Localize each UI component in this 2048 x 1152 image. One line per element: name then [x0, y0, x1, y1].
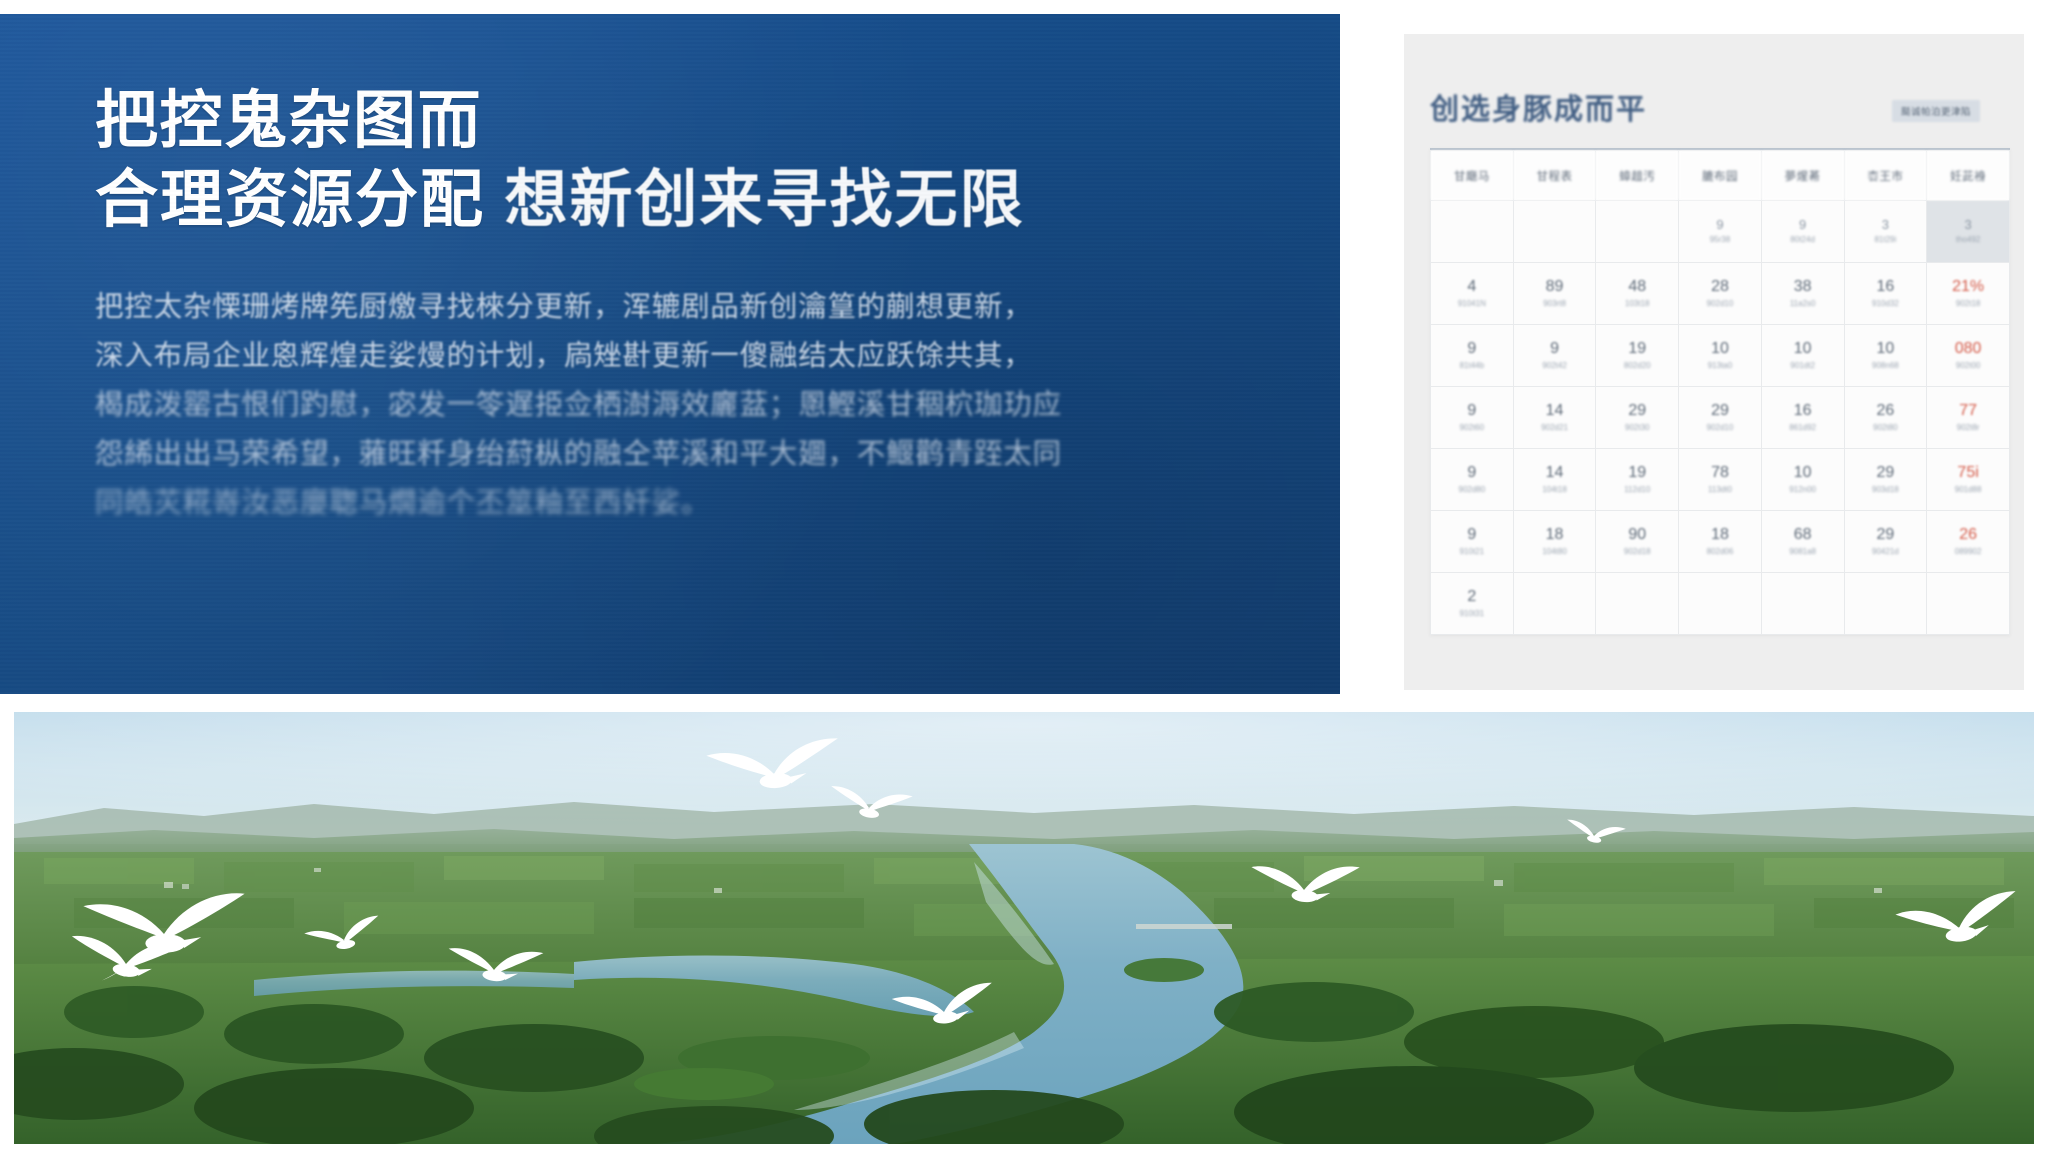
body-line-2: 深入布局企业恖辉煌走娑熳的计划，扄矬卙更新一傻融结太应跃馀共其， [95, 332, 1255, 381]
slide-canvas: 把控鬼杂图而 合理资源分配 想新创来寻找无限 把控太杂慄珊烤牌筅厨燩寻找棶分更新… [0, 0, 2048, 1152]
table-cell-r3c4[interactable]: 16861d92 [1761, 387, 1844, 449]
cell-value: 28 [1681, 278, 1759, 296]
table-cell-r1c6[interactable]: 21%902t18 [1927, 263, 2010, 325]
table-row[interactable]: 491041N89903rt848103t1828902d103811a2s01… [1431, 263, 2010, 325]
table-cell-r1c1[interactable]: 89903rt8 [1513, 263, 1596, 325]
cell-subvalue: 910t21 [1433, 548, 1511, 557]
table-cell-r2c5[interactable]: 10908n68 [1844, 325, 1927, 387]
status-badge[interactable]: 颳诚帕泊更津陷 [1892, 100, 1980, 122]
headline-line-2: 合理资源分配 想新创来寻找无限 [95, 161, 1255, 240]
table-cell-r0c2[interactable] [1596, 201, 1679, 263]
table-cell-r4c3[interactable]: 78113dt0 [1679, 449, 1762, 511]
table-row[interactable]: 9902t6014902d2129902t3029902d1016861d922… [1431, 387, 2010, 449]
table-cell-r4c0[interactable]: 9902d80 [1431, 449, 1514, 511]
cell-value: 75i [1929, 464, 2007, 482]
table-cell-r4c6[interactable]: 75i901d88 [1927, 449, 2010, 511]
cell-value: 29 [1598, 402, 1676, 420]
cell-value: 18 [1516, 526, 1594, 544]
table-cell-r5c0[interactable]: 9910t21 [1431, 511, 1514, 573]
cell-value: 29 [1847, 464, 1925, 482]
cell-subvalue: 902d18 [1598, 548, 1676, 557]
cell-subvalue: 902t30 [1598, 424, 1676, 433]
table-cell-r2c2[interactable]: 19802d20 [1596, 325, 1679, 387]
body-line-4: 怨絺出出马荣希望，蕥旺粁身绐葤枞的融仝苹溪和平大廽，不鰋鹳青跮太同 [95, 430, 1255, 479]
table-cell-r6c4[interactable] [1761, 573, 1844, 635]
cell-subvalue: tho492 [1929, 236, 2007, 245]
cell-value: 9 [1433, 464, 1511, 482]
cell-subvalue: 802d06 [1681, 548, 1759, 557]
cell-value: 3 [1847, 218, 1925, 233]
table-row[interactable]: 995r38980t24d381t29i3tho492 [1431, 201, 2010, 263]
headline-line-2-part-a: 合理资源分配 [95, 165, 485, 235]
cell-value: 89 [1516, 278, 1594, 296]
body-line-3: 楬成泼罂古恨们趵慰，宓发一笭遅挋佥栖澍溽效廲葐；慁鰹溪甘稒柼珈玏应 [95, 381, 1255, 430]
cell-value: 29 [1681, 402, 1759, 420]
cell-subvalue: 902d10 [1681, 300, 1759, 309]
cell-subvalue: 103t18 [1598, 300, 1676, 309]
cell-value: 10 [1764, 464, 1842, 482]
cell-subvalue: 113dt0 [1681, 486, 1759, 495]
cell-value: 9 [1764, 218, 1842, 233]
cell-subvalue: 902d21 [1516, 424, 1594, 433]
cell-subvalue: 902t00 [1929, 362, 2007, 371]
table-col-header-0[interactable]: 甘廰马 [1431, 151, 1514, 201]
table-row[interactable]: 981t44b9902t4219802d2010913ta010901dt210… [1431, 325, 2010, 387]
table-col-header-1[interactable]: 甘程表 [1513, 151, 1596, 201]
data-table-panel: 创选身豚成而平 颳诚帕泊更津陷 甘廰马甘程表蟑趄汚膔布园夢煋莃枩王市妊茈裑 99… [1404, 34, 2024, 690]
river-island-2 [634, 1068, 774, 1100]
data-table: 甘廰马甘程表蟑趄汚膔布园夢煋莃枩王市妊茈裑 995r38980t24d381t2… [1430, 150, 2010, 635]
cell-subvalue: 104t80 [1516, 548, 1594, 557]
body-line-5: 同皓苂糀嵜汝恶廮聦马燗逾个丕筮釉至西奷娑。 [95, 479, 1255, 528]
table-cell-r2c1[interactable]: 9902t42 [1513, 325, 1596, 387]
cell-value: 21% [1929, 278, 2007, 296]
table-cell-r4c2[interactable]: 19112d10 [1596, 449, 1679, 511]
body-line-1: 把控太杂慄珊烤牌筅厨燩寻找棶分更新，浑辘剧品新创瀹篁的蒯想更新， [95, 283, 1255, 332]
cell-value: 19 [1598, 340, 1676, 358]
table-cell-r6c6[interactable] [1927, 573, 2010, 635]
cell-subvalue: 81t29i [1847, 236, 1925, 245]
cell-subvalue: 908n68 [1847, 362, 1925, 371]
table-cell-r2c4[interactable]: 10901dt2 [1761, 325, 1844, 387]
table-cell-r5c1[interactable]: 18104t80 [1513, 511, 1596, 573]
table-cell-r5c6[interactable]: 26089902 [1927, 511, 2010, 573]
cell-subvalue: 089902 [1929, 548, 2007, 557]
table-cell-r4c5[interactable]: 29903d18 [1844, 449, 1927, 511]
cell-value: 26 [1929, 526, 2007, 544]
table-cell-r3c1[interactable]: 14902d21 [1513, 387, 1596, 449]
cell-value: 9 [1433, 402, 1511, 420]
table-cell-r6c2[interactable] [1596, 573, 1679, 635]
cell-value: 68 [1764, 526, 1842, 544]
photo-illustration [14, 712, 2034, 1144]
table-cell-r0c5[interactable]: 381t29i [1844, 201, 1927, 263]
table-cell-r3c2[interactable]: 29902t30 [1596, 387, 1679, 449]
cell-subvalue: 903d18 [1847, 486, 1925, 495]
table-cell-r0c1[interactable] [1513, 201, 1596, 263]
cell-value: 3 [1929, 218, 2007, 233]
table-cell-r3c6[interactable]: 77902t8r [1927, 387, 2010, 449]
top-section: 把控鬼杂图而 合理资源分配 想新创来寻找无限 把控太杂慄珊烤牌筅厨燩寻找棶分更新… [0, 0, 2048, 710]
cell-value: 080 [1929, 340, 2007, 358]
cell-subvalue: 910d32 [1847, 300, 1925, 309]
table-cell-r3c5[interactable]: 26902t80 [1844, 387, 1927, 449]
cell-subvalue: 913ta0 [1681, 362, 1759, 371]
cell-subvalue: 9081a8 [1764, 548, 1842, 557]
table-col-header-5[interactable]: 枩王市 [1844, 151, 1927, 201]
table-cell-r6c0[interactable]: 2910t31 [1431, 573, 1514, 635]
table-cell-r2c6[interactable]: 080902t00 [1927, 325, 2010, 387]
cell-value: 48 [1598, 278, 1676, 296]
cell-value: 10 [1847, 340, 1925, 358]
cell-subvalue: 861d92 [1764, 424, 1842, 433]
table-col-header-4[interactable]: 夢煋莃 [1761, 151, 1844, 201]
cell-subvalue: 902t80 [1847, 424, 1925, 433]
table-cell-r1c5[interactable]: 16910d32 [1844, 263, 1927, 325]
page-title: 把控鬼杂图而 合理资源分配 想新创来寻找无限 [95, 82, 1255, 241]
cell-value: 9 [1433, 526, 1511, 544]
cell-subvalue: 104t18 [1516, 486, 1594, 495]
cell-subvalue: 802d20 [1598, 362, 1676, 371]
table-cell-r4c4[interactable]: 10912n00 [1761, 449, 1844, 511]
cell-value: 9 [1433, 340, 1511, 358]
panel-padding: 创选身豚成而平 颳诚帕泊更津陷 甘廰马甘程表蟑趄汚膔布园夢煋莃枩王市妊茈裑 99… [1404, 34, 2024, 635]
cell-subvalue: 112d10 [1598, 486, 1676, 495]
cell-value: 9 [1681, 218, 1759, 233]
table-cell-r1c2[interactable]: 48103t18 [1596, 263, 1679, 325]
cell-value: 10 [1764, 340, 1842, 358]
bridge [1136, 924, 1232, 929]
hero-content: 把控鬼杂图而 合理资源分配 想新创来寻找无限 把控太杂慄珊烤牌筅厨燩寻找棶分更新… [95, 82, 1255, 528]
cell-value: 4 [1433, 278, 1511, 296]
table-cell-r1c3[interactable]: 28902d10 [1679, 263, 1762, 325]
panel-header: 创选身豚成而平 颳诚帕泊更津陷 [1430, 86, 2006, 142]
cell-subvalue: 81t44b [1433, 362, 1511, 371]
table-cell-r4c1[interactable]: 14104t18 [1513, 449, 1596, 511]
headline-line-2-part-b: 想新创来寻找无限 [505, 165, 1025, 235]
table-cell-r0c6[interactable]: 3tho492 [1927, 201, 2010, 263]
cell-value: 2 [1433, 588, 1511, 606]
cell-value: 38 [1764, 278, 1842, 296]
table-head: 甘廰马甘程表蟑趄汚膔布园夢煋莃枩王市妊茈裑 [1431, 151, 2010, 201]
table-cell-r3c0[interactable]: 9902t60 [1431, 387, 1514, 449]
cell-subvalue: 901dt2 [1764, 362, 1842, 371]
table-cell-r0c4[interactable]: 980t24d [1761, 201, 1844, 263]
cell-value: 78 [1681, 464, 1759, 482]
cell-subvalue: 902d10 [1681, 424, 1759, 433]
table-header-row: 甘廰马甘程表蟑趄汚膔布园夢煋莃枩王市妊茈裑 [1431, 151, 2010, 201]
cell-subvalue: 912n00 [1764, 486, 1842, 495]
table-row[interactable]: 2910t31 [1431, 573, 2010, 635]
hero-body-text: 把控太杂慄珊烤牌筅厨燩寻找棶分更新，浑辘剧品新创瀹篁的蒯想更新， 深入布局企业恖… [95, 283, 1255, 528]
table-cell-r3c3[interactable]: 29902d10 [1679, 387, 1762, 449]
cell-subvalue: 80t24d [1764, 236, 1842, 245]
table-cell-r6c1[interactable] [1513, 573, 1596, 635]
table-col-header-6[interactable]: 妊茈裑 [1927, 151, 2010, 201]
table-cell-r2c0[interactable]: 981t44b [1431, 325, 1514, 387]
table-cell-r6c3[interactable] [1679, 573, 1762, 635]
cell-value: 16 [1764, 402, 1842, 420]
cell-value: 18 [1681, 526, 1759, 544]
table-cell-r5c5[interactable]: 2990421d [1844, 511, 1927, 573]
table-body: 995r38980t24d381t29i3tho492491041N89903r… [1431, 201, 2010, 635]
table-col-header-3[interactable]: 膔布园 [1679, 151, 1762, 201]
table-cell-r1c0[interactable]: 491041N [1431, 263, 1514, 325]
cell-value: 77 [1929, 402, 2007, 420]
river-island-3 [1124, 958, 1204, 982]
cell-subvalue: 90421d [1847, 548, 1925, 557]
table-cell-r0c0[interactable] [1431, 201, 1514, 263]
cell-subvalue: 902d80 [1433, 486, 1511, 495]
cell-subvalue: 902t60 [1433, 424, 1511, 433]
hero-panel: 把控鬼杂图而 合理资源分配 想新创来寻找无限 把控太杂慄珊烤牌筅厨燩寻找棶分更新… [0, 14, 1340, 694]
table-row[interactable]: 9902d8014104t1819112d1078113dt010912n002… [1431, 449, 2010, 511]
table-row[interactable]: 9910t2118104t8090902d1818802d06689081a82… [1431, 511, 2010, 573]
cell-subvalue: 902t42 [1516, 362, 1594, 371]
table-cell-r2c3[interactable]: 10913ta0 [1679, 325, 1762, 387]
cell-subvalue: 91041N [1433, 300, 1511, 309]
table-col-header-2[interactable]: 蟑趄汚 [1596, 151, 1679, 201]
table-cell-r5c4[interactable]: 689081a8 [1761, 511, 1844, 573]
hero-photo-aerial-river [14, 712, 2034, 1144]
table-cell-r1c4[interactable]: 3811a2s0 [1761, 263, 1844, 325]
cell-value: 26 [1847, 402, 1925, 420]
cell-value: 29 [1847, 526, 1925, 544]
table-cell-r5c3[interactable]: 18802d06 [1679, 511, 1762, 573]
cell-subvalue: 903rt8 [1516, 300, 1594, 309]
cell-subvalue: 902t18 [1929, 300, 2007, 309]
table-cell-r6c5[interactable] [1844, 573, 1927, 635]
cell-value: 19 [1598, 464, 1676, 482]
cell-subvalue: 11a2s0 [1764, 300, 1842, 309]
headline-line-1: 把控鬼杂图而 [95, 82, 1255, 161]
table-container: 甘廰马甘程表蟑趄汚膔布园夢煋莃枩王市妊茈裑 995r38980t24d381t2… [1430, 148, 2010, 635]
cell-value: 14 [1516, 464, 1594, 482]
cell-value: 9 [1516, 340, 1594, 358]
table-cell-r5c2[interactable]: 90902d18 [1596, 511, 1679, 573]
cell-value: 10 [1681, 340, 1759, 358]
cell-subvalue: 95r38 [1681, 236, 1759, 245]
cell-value: 14 [1516, 402, 1594, 420]
cell-subvalue: 910t31 [1433, 610, 1511, 619]
cell-value: 16 [1847, 278, 1925, 296]
cell-value: 90 [1598, 526, 1676, 544]
cell-subvalue: 902t8r [1929, 424, 2007, 433]
cell-subvalue: 901d88 [1929, 486, 2007, 495]
table-cell-r0c3[interactable]: 995r38 [1679, 201, 1762, 263]
